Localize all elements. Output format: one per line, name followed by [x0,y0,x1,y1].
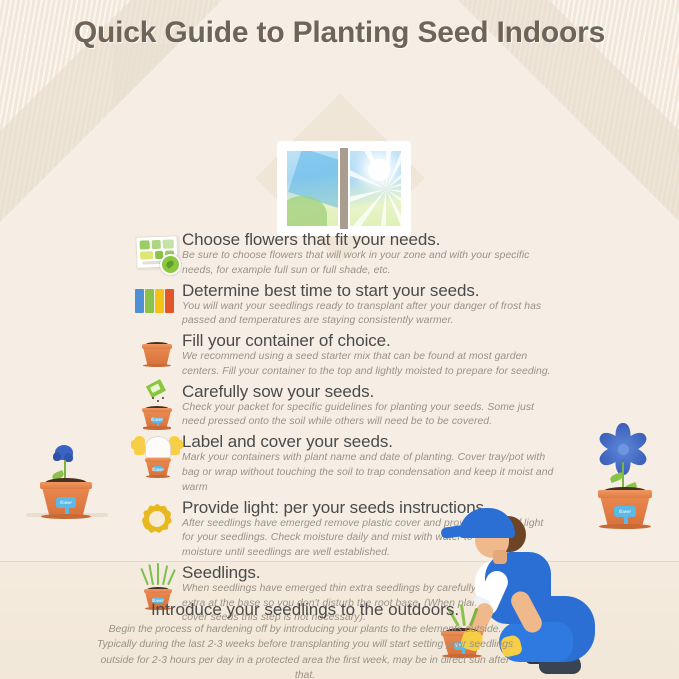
seed-packet [146,379,166,398]
sun-icon [134,498,180,544]
window-pane-left [284,148,341,229]
list-item: Determine best time to start your seeds.… [134,281,554,330]
step-text: Choose flowers that fit your needs. Be s… [182,230,554,279]
packet-row [134,289,180,315]
neck [493,550,507,564]
footer-block: Introduce your seedlings to the outdoors… [95,600,515,679]
pot-shape [142,337,172,365]
step-body: We recommend using a seed starter mix th… [182,350,554,380]
window-with-sun-icon [278,142,410,235]
pot-shape: flower [145,452,171,476]
page-title: Quick Guide to Planting Seed Indoors [0,16,679,50]
step-text: Carefully sow your seeds. Check your pac… [182,382,554,431]
pot-shape: flower [40,470,92,516]
seed-catalog-icon [134,230,180,276]
step-text: Fill your container of choice. We recomm… [182,331,554,380]
pot-saucer [143,364,172,367]
step-text: Label and cover your seeds. Mark your co… [182,432,554,495]
window-pane-right [347,148,404,229]
flower-core [618,444,629,455]
list-item: flower Label and cover your seeds. Mark … [134,432,554,495]
list-item: flower Carefully sow your seeds. Check y… [134,382,554,431]
seed-packets-icon [134,281,180,327]
step-text: Determine best time to start your seeds.… [182,281,554,330]
seedling-blades [144,563,172,585]
pot-rim [145,458,171,462]
pot-saucer [146,475,171,478]
glove-left-icon [134,436,145,455]
zone-badge-icon [160,254,181,275]
pot-rim [142,344,172,348]
step-heading: Label and cover your seeds. [182,432,554,451]
footer-heading: Introduce your seedlings to the outdoors… [95,600,515,620]
seed-packet-pouring-icon: flower [134,382,180,434]
infographic-poster: Quick Guide to Planting Seed Indoors Cho… [0,0,679,679]
pot-rim [40,482,92,489]
list-item: Choose flowers that fit your needs. Be s… [134,230,554,279]
step-heading: Fill your container of choice. [182,331,554,350]
pot-rim [142,408,172,412]
empty-pot-icon [134,331,180,377]
step-heading: Determine best time to start your seeds. [182,281,554,300]
plant-tag: flower [153,466,163,472]
pot-saucer [143,426,172,429]
pot-shape: flower [142,402,172,428]
step-heading: Carefully sow your seeds. [182,382,554,401]
step-heading: Choose flowers that fit your needs. [182,230,554,249]
step-body: Be sure to choose flowers that will work… [182,249,554,279]
list-item: Fill your container of choice. We recomm… [134,331,554,380]
gloves-and-bag-icon: flower [134,432,180,480]
pot-body [142,348,172,365]
sun-core-icon [368,159,390,181]
window-mullion [338,148,350,229]
sun-glyph [142,504,172,534]
pot-rim [144,589,172,593]
step-body: Check your packet for specific guideline… [182,401,554,431]
footer-body: Begin the process of hardening off by in… [95,622,515,679]
step-body: You will want your seedlings ready to tr… [182,300,554,330]
step-body: Mark your containers with plant name and… [182,451,554,495]
